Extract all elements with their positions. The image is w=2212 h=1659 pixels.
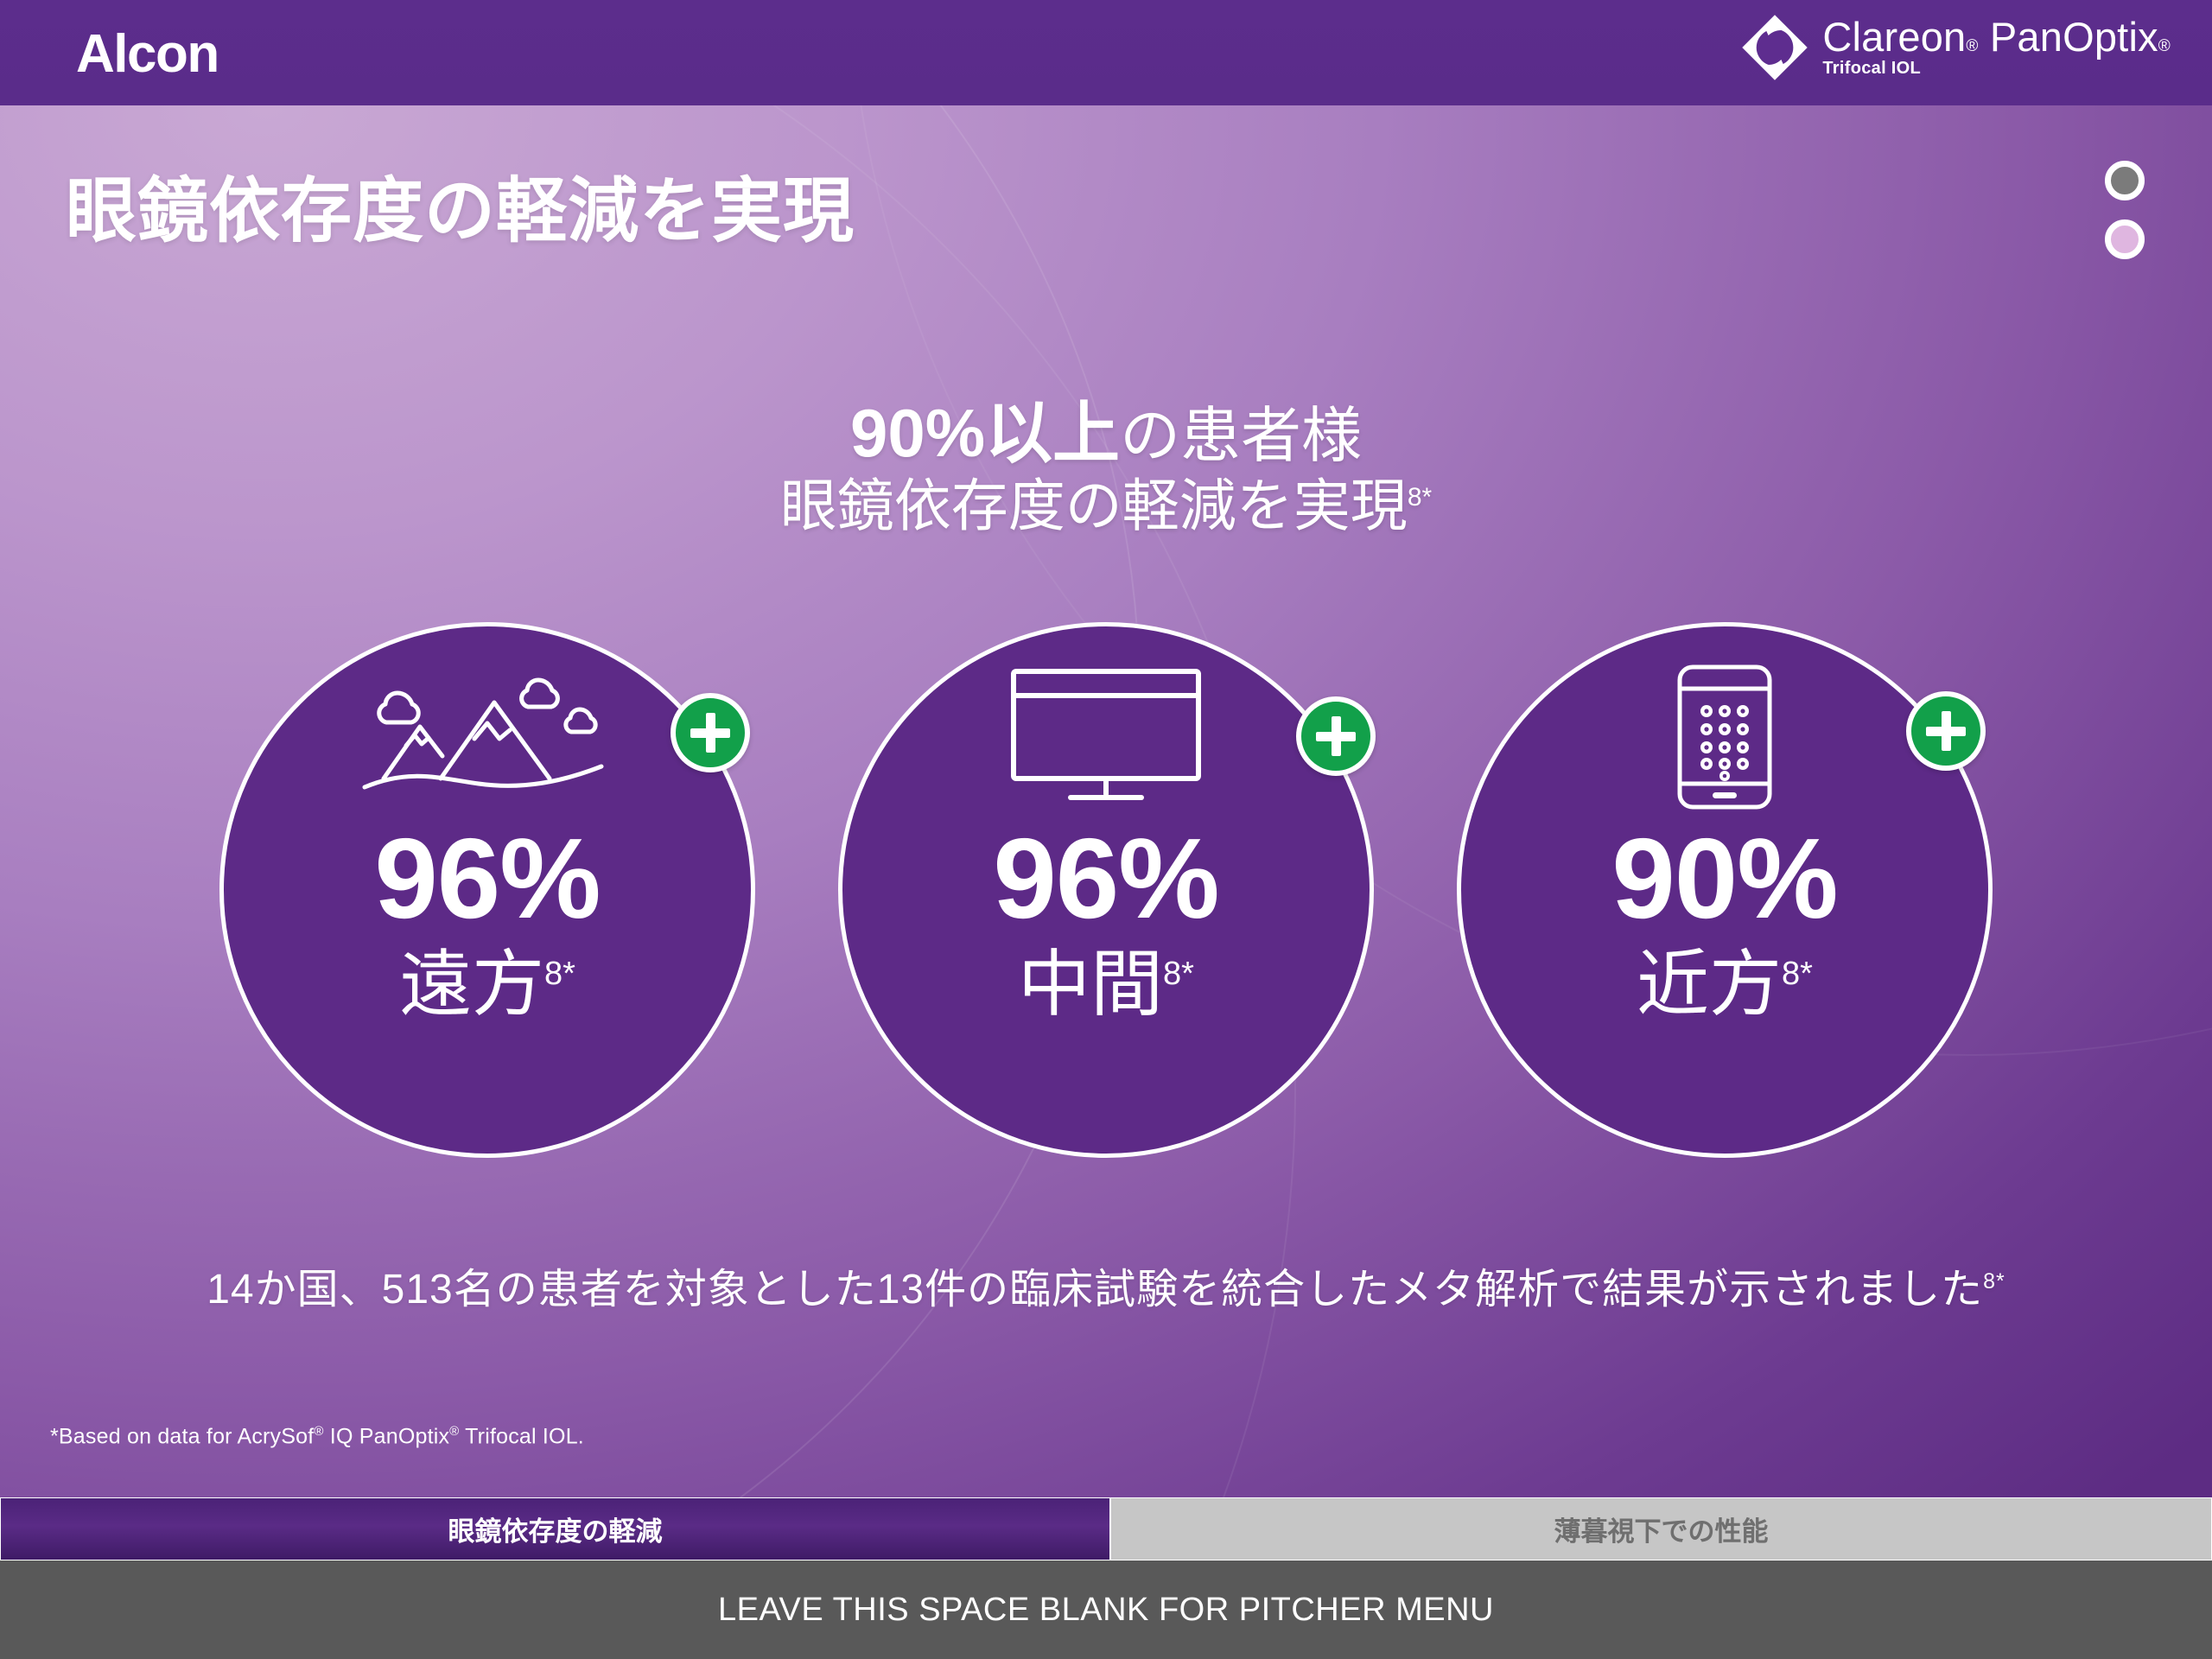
- brand-reg-1: ®: [1966, 37, 1978, 55]
- pitcher-menu-placeholder: LEAVE THIS SPACE BLANK FOR PITCHER MENU: [0, 1560, 2212, 1659]
- stat-value-distance: 96%: [374, 822, 600, 936]
- pitcher-menu-text: LEAVE THIS SPACE BLANK FOR PITCHER MENU: [718, 1592, 1494, 1629]
- brand-subtitle: Trifocal IOL: [1822, 59, 2171, 79]
- stat-disc-distance[interactable]: 96% 遠方8*: [219, 622, 755, 1158]
- footnote: *Based on data for AcrySof® IQ PanOptix®…: [50, 1424, 584, 1449]
- expand-plus-button-intermediate[interactable]: [1296, 696, 1376, 776]
- study-meta-text: 14か国、513名の患者を対象とした13件の臨床試験を統合したメタ解析で結果が示…: [207, 1267, 1983, 1313]
- stat-value-near: 90%: [1611, 822, 1837, 936]
- stat-label-intermediate: 中間8*: [1018, 948, 1194, 1020]
- footnote-prefix: *Based on data for AcrySof: [50, 1424, 314, 1448]
- brand-text-block: Clareon® PanOptix® Trifocal IOL: [1822, 16, 2171, 79]
- subtitle-line-1: 90%以上の患者様: [0, 396, 2212, 471]
- stat-disc-near[interactable]: 90% 近方8*: [1457, 622, 1993, 1158]
- stat-card-near[interactable]: 90% 近方8*: [1457, 622, 1993, 1158]
- stat-label-intermediate-sup: 8*: [1163, 956, 1194, 992]
- stat-disc-intermediate[interactable]: 96% 中間8*: [838, 622, 1374, 1158]
- pagination-dots[interactable]: [2105, 161, 2145, 259]
- slide-root: Alcon Clareon® PanOptix® Trifocal IOL 眼鏡…: [0, 0, 2212, 1659]
- footnote-reg-1: ®: [314, 1424, 323, 1439]
- footnote-mid: IQ PanOptix: [324, 1424, 450, 1448]
- page-title: 眼鏡依存度の軽減を実現: [66, 173, 855, 251]
- header-bar: Alcon Clareon® PanOptix® Trifocal IOL: [0, 0, 2212, 105]
- stat-value-intermediate: 96%: [993, 822, 1218, 936]
- expand-plus-button-distance[interactable]: [671, 693, 750, 772]
- tab-bar: 眼鏡依存度の軽減 薄暮視下での性能: [0, 1497, 2212, 1560]
- subtitle-block: 90%以上の患者様 眼鏡依存度の軽減を実現8*: [0, 396, 2212, 539]
- mountain-landscape-icon: [358, 668, 617, 806]
- stat-card-intermediate[interactable]: 96% 中間8*: [838, 622, 1374, 1158]
- stat-label-distance-sup: 8*: [544, 956, 575, 992]
- brand-name-clareon: Clareon: [1822, 14, 1966, 60]
- page-dot-1[interactable]: [2105, 161, 2145, 200]
- smartphone-dialpad-icon: [1674, 668, 1776, 806]
- footnote-suffix: Trifocal IOL.: [459, 1424, 584, 1448]
- brand-name: Clareon® PanOptix®: [1822, 16, 2171, 58]
- stat-label-near-sup: 8*: [1782, 956, 1813, 992]
- study-meta-sup: 8*: [1983, 1269, 2005, 1294]
- stat-circle-group: 96% 遠方8* 96% 中間8*: [0, 622, 2212, 1158]
- study-meta-line: 14か国、513名の患者を対象とした13件の臨床試験を統合したメタ解析で結果が示…: [0, 1255, 2212, 1315]
- stat-label-intermediate-text: 中間: [1018, 944, 1163, 1025]
- tab-spectacle-independence[interactable]: 眼鏡依存度の軽減: [0, 1497, 1110, 1560]
- clareon-swirl-icon: [1739, 12, 1810, 83]
- subtitle-line-2: 眼鏡依存度の軽減を実現8*: [0, 473, 2212, 539]
- brand-reg-2: ®: [2158, 37, 2171, 55]
- page-dot-2[interactable]: [2105, 219, 2145, 259]
- footnote-reg-2: ®: [449, 1424, 459, 1439]
- subtitle-line-1-rest: の患者様: [1120, 402, 1362, 469]
- subtitle-line-2-text: 眼鏡依存度の軽減を実現: [780, 474, 1408, 537]
- monitor-icon: [1007, 668, 1205, 806]
- stat-label-near-text: 近方: [1637, 944, 1782, 1025]
- clareon-panoptix-lockup: Clareon® PanOptix® Trifocal IOL: [1739, 12, 2171, 83]
- stat-card-distance[interactable]: 96% 遠方8*: [219, 622, 755, 1158]
- stat-label-distance: 遠方8*: [399, 948, 575, 1020]
- expand-plus-button-near[interactable]: [1906, 691, 1986, 771]
- stat-label-near: 近方8*: [1637, 948, 1813, 1020]
- tab-mesopic-performance[interactable]: 薄暮視下での性能: [1110, 1497, 2212, 1560]
- brand-name-panoptix: PanOptix: [1990, 14, 2158, 60]
- subtitle-percentage: 90%以上: [850, 395, 1120, 471]
- stat-label-distance-text: 遠方: [399, 944, 544, 1025]
- alcon-logo: Alcon: [76, 23, 219, 85]
- subtitle-superscript: 8*: [1408, 483, 1432, 512]
